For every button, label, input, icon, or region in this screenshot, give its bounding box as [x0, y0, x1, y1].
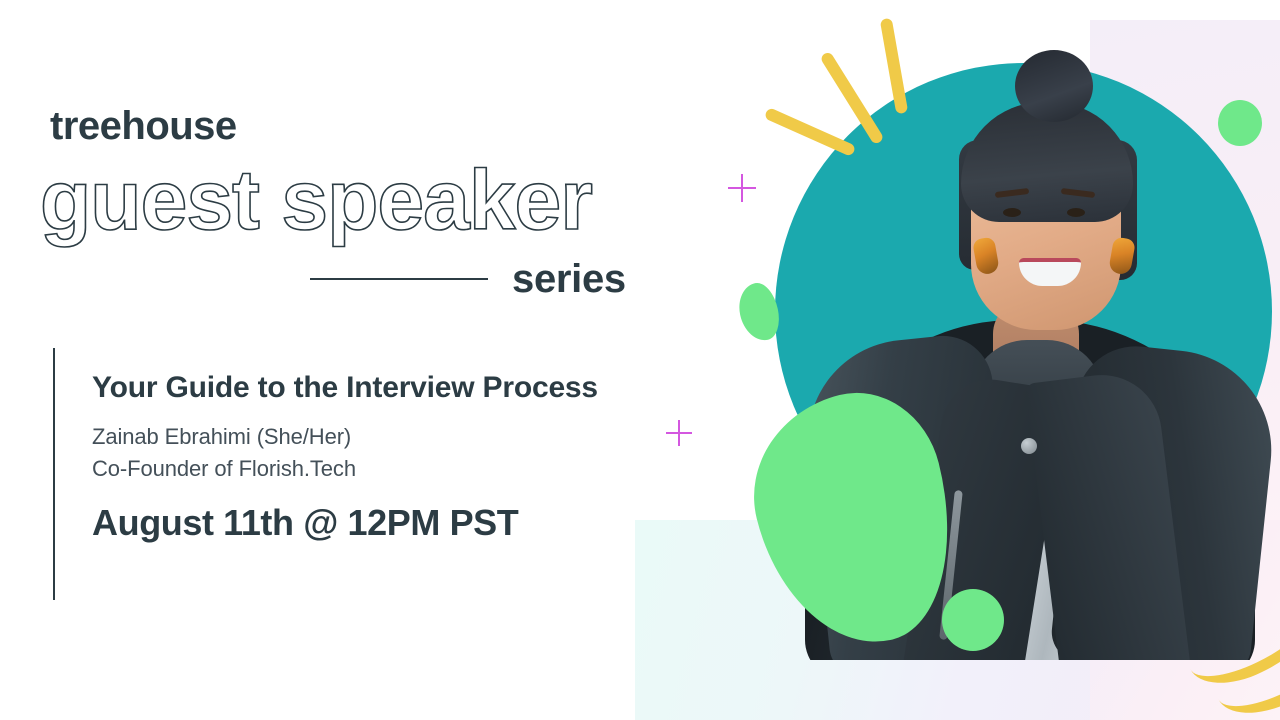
talk-title: Your Guide to the Interview Process: [92, 368, 652, 407]
speaker-role: Co-Founder of Florish.Tech: [92, 453, 652, 485]
promo-slide: treehouse guest speaker series Your Guid…: [0, 0, 1280, 720]
content-column: treehouse guest speaker series Your Guid…: [0, 0, 680, 720]
portrait-jacket-snap: [1021, 438, 1037, 454]
detail-accent-rule: [53, 348, 55, 600]
series-row: series: [310, 256, 625, 302]
background-panel-right-notch: [1090, 0, 1280, 20]
magenta-plus-icon-1: [728, 174, 756, 202]
talk-details: Your Guide to the Interview Process Zain…: [92, 368, 652, 542]
portrait-eye-right: [1067, 208, 1085, 217]
series-divider-rule: [310, 278, 488, 280]
series-label: series: [512, 259, 626, 299]
portrait-eye-left: [1003, 208, 1021, 217]
speaker-name: Zainab Ebrahimi (She/Her): [92, 421, 652, 453]
headline-outline: guest speaker: [40, 158, 592, 242]
event-datetime: August 11th @ 12PM PST: [92, 503, 652, 543]
treehouse-wordmark: treehouse: [50, 106, 237, 146]
portrait-hair-bun: [1015, 50, 1093, 122]
plus-bar-vertical: [741, 174, 743, 202]
green-dot-bottom-shape: [942, 589, 1004, 651]
